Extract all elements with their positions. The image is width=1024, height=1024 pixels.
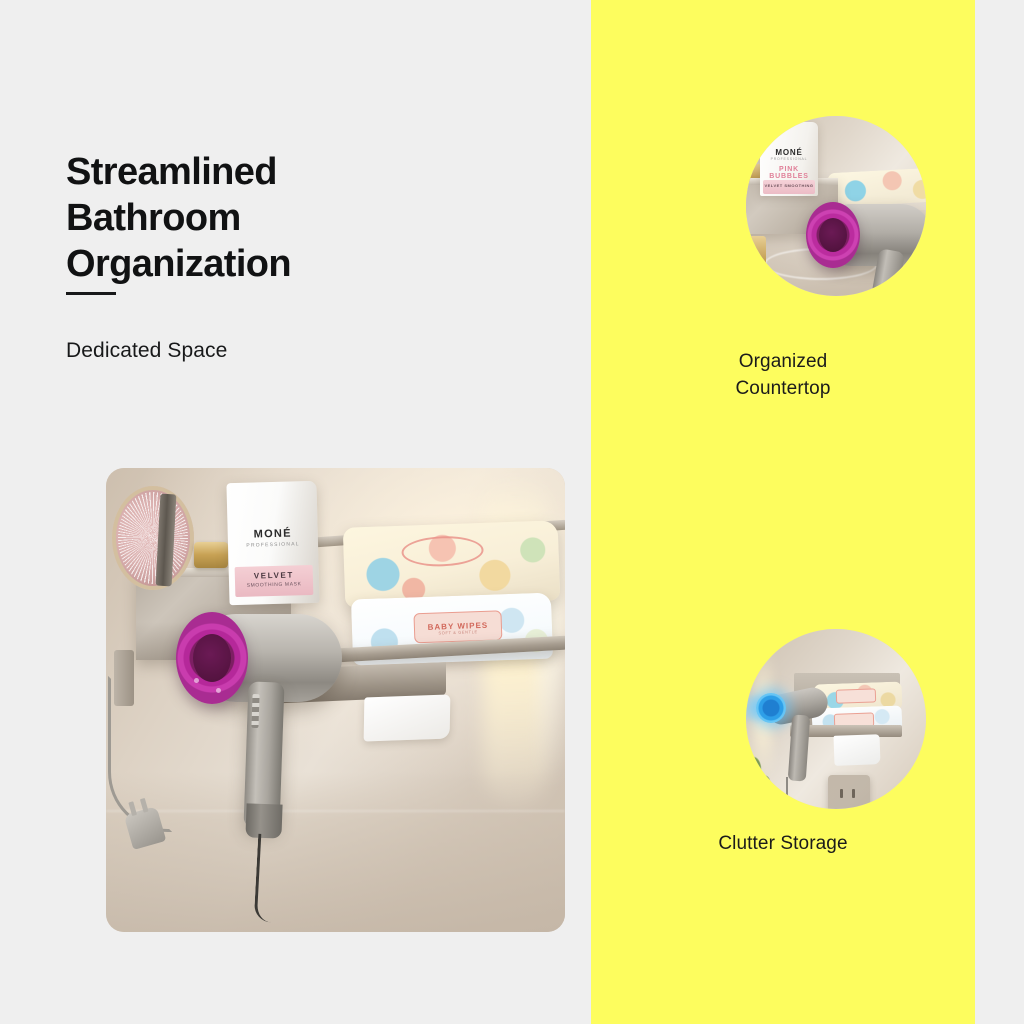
hero-product-photo: MONÉ PROFESSIONAL VELVET SMOOTHING MASK … (106, 468, 565, 932)
hair-brush (112, 486, 194, 590)
cream-tube-brand-sub: PROFESSIONAL (228, 541, 318, 549)
hair-dryer-button-right (216, 688, 221, 693)
brush-bristles (118, 492, 188, 584)
c1-cream-tube-brand-sub: PROFESSIONAL (760, 157, 818, 161)
c1-cream-tube-brand: MONÉ (760, 148, 818, 157)
product-infographic-page: Streamlined Bathroom Organization Dedica… (0, 0, 1024, 1024)
cream-tube-label-sub: SMOOTHING MASK (235, 581, 313, 589)
headline-line-1: Streamlined (66, 149, 546, 195)
page-title: Streamlined Bathroom Organization (66, 149, 546, 287)
c2-outlet-slot-right (852, 789, 855, 798)
caption-organized-countertop: Organized Countertop (591, 348, 975, 402)
tissue-sheet (364, 694, 451, 741)
left-content-panel: Streamlined Bathroom Organization Dedica… (0, 0, 591, 1024)
caption-top-line-2: Countertop (591, 375, 975, 402)
wipes-pack-badge: BABY WIPES SOFT & GENTLE (413, 610, 502, 643)
headline-line-3: Organization (66, 241, 546, 287)
gold-cosmetic-jar (194, 542, 228, 568)
c2-wipes-badge-top (836, 688, 876, 703)
caption-bottom-line-1: Clutter Storage (591, 830, 975, 857)
feature-photo-clutter-storage (746, 629, 926, 809)
c2-wall-outlet (828, 775, 870, 809)
cream-tube-label: VELVET SMOOTHING MASK (235, 565, 314, 597)
c1-cream-tube-variant: PINK BUBBLES (764, 166, 814, 180)
subheading: Dedicated Space (66, 336, 227, 366)
c2-tissue-sheet (833, 734, 880, 766)
feature-photo-organized-countertop: MONÉ PROFESSIONAL PINK BUBBLES VELVET SM… (746, 116, 926, 296)
wipes-pack-top-oval (401, 535, 484, 568)
cream-tube-brand: MONÉ (228, 527, 318, 541)
caption-top-line-1: Organized (591, 348, 975, 375)
hair-dryer-control-buttons (251, 694, 259, 728)
right-highlight-panel: MONÉ PROFESSIONAL PINK BUBBLES VELVET SM… (591, 0, 975, 1024)
hair-dryer-ring-inner (193, 634, 231, 682)
cream-tube-label-main: VELVET (235, 570, 313, 581)
c1-cream-tube-band: VELVET SMOOTHING (763, 180, 815, 194)
photo-surface-highlight (106, 810, 565, 812)
photo-counter-surface (106, 772, 565, 932)
c2-hair-dryer-ring (756, 693, 786, 723)
cream-tube: MONÉ PROFESSIONAL VELVET SMOOTHING MASK (226, 481, 319, 605)
caption-clutter-storage: Clutter Storage (591, 830, 975, 857)
c2-plant (746, 755, 774, 803)
c2-power-cord (786, 777, 828, 809)
c2-outlet-slot-left (840, 789, 843, 798)
c1-gold-bottle (748, 236, 766, 266)
hair-dryer-button-left (194, 678, 199, 683)
title-divider (66, 292, 116, 295)
c1-cream-tube: MONÉ PROFESSIONAL PINK BUBBLES VELVET SM… (760, 122, 818, 196)
c1-wipes-pack (827, 167, 926, 207)
c1-hair-dryer-ring (806, 202, 860, 268)
c1-cream-tube-band-text: VELVET SMOOTHING (763, 183, 815, 188)
hair-dryer-ring (176, 612, 248, 704)
c1-hair-dryer-ring-inner (819, 218, 847, 252)
headline-line-2: Bathroom (66, 195, 546, 241)
